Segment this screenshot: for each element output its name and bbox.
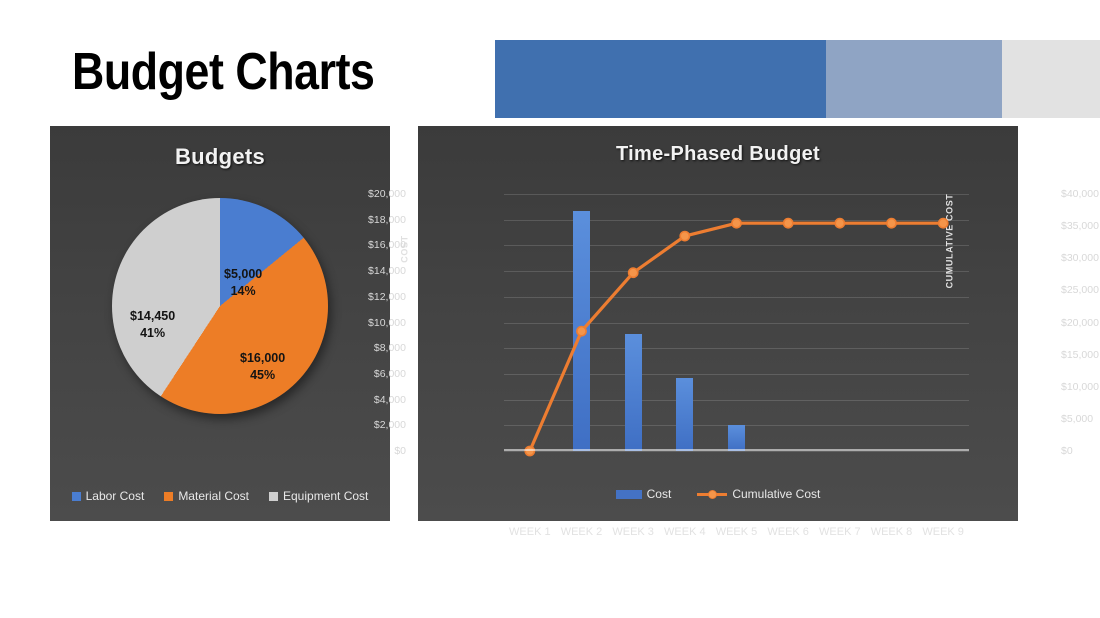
y-axis-left-tick-label: $8,000 xyxy=(374,343,406,354)
plot-area[interactable]: $20,000$18,000$16,000$14,000$12,000$10,0… xyxy=(504,194,969,451)
pie-label-labor-value: $5,000 xyxy=(224,267,262,281)
pie-label-labor-percent: 14% xyxy=(231,284,256,298)
pie-label-equipment-percent: 41% xyxy=(140,326,165,340)
y-axis-right-tick-label: $15,000 xyxy=(1061,350,1099,361)
y-axis-left-tick-label: $6,000 xyxy=(374,369,406,380)
line-series-cumulative-cost[interactable] xyxy=(504,194,969,451)
pie-label-material-cost: $16,000 45% xyxy=(240,350,285,384)
pie-chart-legend: Labor Cost Material Cost Equipment Cost xyxy=(50,489,390,503)
y-axis-right-tick-label: $0 xyxy=(1061,446,1073,457)
legend-label-cumulative-cost: Cumulative Cost xyxy=(732,487,820,501)
pie-chart-panel[interactable]: Budgets $5,000 14% $16,000 45% $14,450 4… xyxy=(50,126,390,521)
time-phased-budget-panel[interactable]: Time-Phased Budget COST CUMULATIVE COST … xyxy=(418,126,1018,521)
deco-bar-light-blue xyxy=(826,40,1002,118)
legend-swatch-icon-equipment xyxy=(269,492,278,501)
legend-label-cost: Cost xyxy=(647,487,672,501)
y-axis-right-tick-label: $10,000 xyxy=(1061,382,1099,393)
legend-label-labor-cost: Labor Cost xyxy=(86,489,145,503)
y-axis-right-tick-label: $5,000 xyxy=(1061,414,1093,425)
x-axis-baseline xyxy=(504,449,969,451)
legend-item-equipment-cost[interactable]: Equipment Cost xyxy=(269,489,368,503)
y-axis-right-tick-label: $30,000 xyxy=(1061,253,1099,264)
legend-line-marker-icon xyxy=(697,489,727,499)
pie-chart-title: Budgets xyxy=(50,144,390,170)
pie-label-labor-cost: $5,000 14% xyxy=(224,266,262,300)
decorative-header-bars xyxy=(495,40,1100,118)
pie-label-material-value: $16,000 xyxy=(240,351,285,365)
y-axis-left-tick-label: $0 xyxy=(394,446,406,457)
legend-label-equipment-cost: Equipment Cost xyxy=(283,489,368,503)
cumulative-cost-marker-1[interactable] xyxy=(525,446,534,455)
legend-item-material-cost[interactable]: Material Cost xyxy=(164,489,249,503)
y-axis-left-tick-label: $18,000 xyxy=(368,215,406,226)
y-axis-right-tick-label: $40,000 xyxy=(1061,189,1099,200)
legend-item-cumulative-cost[interactable]: Cumulative Cost xyxy=(697,487,820,501)
y-axis-right-tick-label: $35,000 xyxy=(1061,221,1099,232)
deco-bar-gray xyxy=(1002,40,1100,118)
y-axis-left-tick-label: $16,000 xyxy=(368,240,406,251)
pie-disc xyxy=(112,198,328,414)
cumulative-cost-marker-8[interactable] xyxy=(887,219,896,228)
gridline xyxy=(504,451,969,452)
y-axis-left-tick-label: $12,000 xyxy=(368,292,406,303)
deco-bar-dark-blue xyxy=(495,40,826,118)
cumulative-cost-marker-2[interactable] xyxy=(577,327,586,336)
time-phased-chart-legend: Cost Cumulative Cost xyxy=(418,487,1018,501)
cumulative-cost-marker-4[interactable] xyxy=(680,232,689,241)
y-axis-left-tick-label: $10,000 xyxy=(368,318,406,329)
pie-label-equipment-value: $14,450 xyxy=(130,309,175,323)
x-axis-tick-label: WEEK 9 xyxy=(910,526,976,538)
y-axis-left-tick-label: $2,000 xyxy=(374,420,406,431)
cumulative-cost-marker-9[interactable] xyxy=(939,219,948,228)
cumulative-cost-line xyxy=(530,223,943,451)
pie-label-equipment-cost: $14,450 41% xyxy=(130,308,175,342)
y-axis-left-tick-label: $4,000 xyxy=(374,395,406,406)
cumulative-cost-marker-6[interactable] xyxy=(784,219,793,228)
y-axis-left-tick-label: $20,000 xyxy=(368,189,406,200)
legend-item-cost[interactable]: Cost xyxy=(616,487,672,501)
cumulative-cost-marker-5[interactable] xyxy=(732,219,741,228)
page-title: Budget Charts xyxy=(72,42,375,102)
pie-chart-graphic[interactable]: $5,000 14% $16,000 45% $14,450 41% xyxy=(112,198,328,414)
pie-label-material-percent: 45% xyxy=(250,368,275,382)
cumulative-cost-marker-7[interactable] xyxy=(835,219,844,228)
legend-bar-swatch-icon xyxy=(616,490,642,499)
legend-label-material-cost: Material Cost xyxy=(178,489,249,503)
y-axis-right-tick-label: $20,000 xyxy=(1061,318,1099,329)
y-axis-right-tick-label: $25,000 xyxy=(1061,285,1099,296)
legend-swatch-icon-labor xyxy=(72,492,81,501)
legend-swatch-icon-material xyxy=(164,492,173,501)
y-axis-left-tick-label: $14,000 xyxy=(368,266,406,277)
cumulative-cost-marker-3[interactable] xyxy=(629,268,638,277)
time-phased-chart-title: Time-Phased Budget xyxy=(418,143,1018,166)
legend-item-labor-cost[interactable]: Labor Cost xyxy=(72,489,145,503)
